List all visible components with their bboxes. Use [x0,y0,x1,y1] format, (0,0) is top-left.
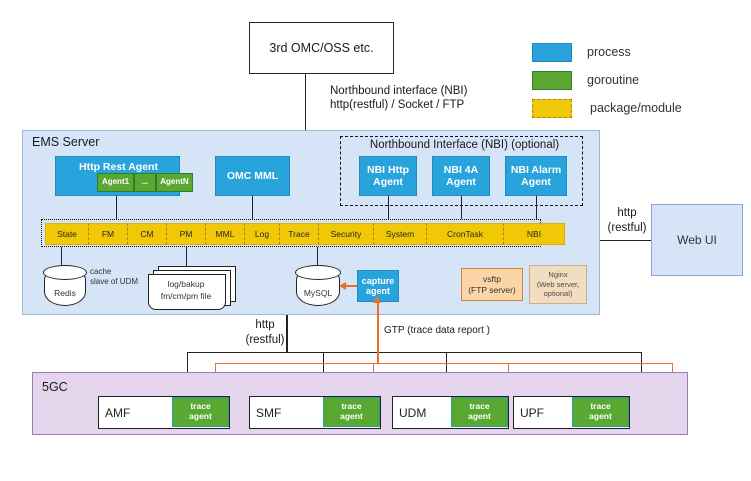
files-label-line2: fm/cm/pm file [161,291,212,303]
fivegc-title: 5GC [42,380,68,396]
nbi-interface-label: Northbound interface (NBI) http(restful)… [330,84,467,113]
module-cell-mml[interactable]: MML [206,223,245,245]
arrow-capture-to-mysql [339,282,346,290]
nf-box-upf[interactable]: UPF trace agent [513,396,630,429]
legend-swatch-goroutine [532,71,572,90]
connector-omcmml-to-modules [252,196,253,219]
nbi-interface-label-line2: http(restful) / Socket / FTP [330,98,467,112]
gtp-link-label: GTP (trace data report ) [384,325,490,338]
module-cell-crontask[interactable]: CronTask [427,223,504,245]
external-omc-oss-box: 3rd OMC/OSS etc. [249,22,394,74]
connector-omcoss-to-ems [305,74,306,130]
connector-modules-to-mysql [317,247,318,266]
nf-label-udm: UDM [399,406,426,420]
legend-swatch-process [532,43,572,62]
module-cell-fm[interactable]: FM [89,223,128,245]
legend-label-package-module: package/module [590,101,682,115]
nf-label-smf: SMF [256,406,281,420]
connector-http-bus-horizontal [187,352,642,353]
connector-modules-to-files [186,247,187,266]
vsftp-box[interactable]: vsftp (FTP server) [461,268,523,301]
connector-modules-to-redis [61,247,62,266]
redis-note: cache slave of UDM [90,267,138,288]
module-cell-system[interactable]: System [374,223,427,245]
connector-httprest-to-modules [116,196,117,219]
nbi-group-title: Northbound Interface (NBI) (optional) [352,138,577,152]
connector-nbi4a-to-modules [461,196,462,219]
connector-ems-to-webui [600,240,651,241]
mysql-label: MySQL [304,288,332,298]
redis-cylinder-top [43,265,87,280]
nbi-interface-label-line1: Northbound interface (NBI) [330,84,467,98]
nf-box-amf[interactable]: AMF trace agent [98,396,230,429]
nf-label-amf: AMF [105,406,130,420]
trace-agent-amf[interactable]: trace agent [172,397,229,427]
external-omc-oss-label: 3rd OMC/OSS etc. [269,41,373,55]
trace-agent-smf[interactable]: trace agent [323,397,380,427]
redis-cylinder: Redis [44,266,86,306]
nf-label-upf: UPF [520,406,544,420]
trace-agent-upf[interactable]: trace agent [572,397,629,427]
legend-label-goroutine: goroutine [587,73,639,87]
connector-gtp-bus-horizontal [215,363,673,364]
connector-capture-to-mysql [346,285,357,287]
goroutine-agentn[interactable]: AgentN [156,173,193,192]
connector-nbialarm-to-modules [536,196,537,219]
mysql-cylinder: MySQL [296,266,340,306]
nbi-http-agent-box[interactable]: NBI Http Agent [359,156,417,196]
web-ui-box[interactable]: Web UI [651,204,743,276]
nbi-4a-agent-box[interactable]: NBI 4A Agent [432,156,490,196]
goroutine-agent-ellipsis: ... [134,173,156,192]
module-cell-trace[interactable]: Trace [280,223,319,245]
module-cell-state[interactable]: State [45,223,89,245]
module-cell-nbi[interactable]: NBI [504,223,565,245]
trace-agent-udm[interactable]: trace agent [451,397,508,427]
mysql-cylinder-top [295,265,341,280]
arrow-gtp-to-capture-agent [373,296,381,303]
connector-nbihttp-to-modules [388,196,389,219]
module-cell-pm[interactable]: PM [167,223,206,245]
redis-label: Redis [54,288,76,298]
legend-swatch-package-module [532,99,572,118]
omc-mml-box[interactable]: OMC MML [215,156,290,196]
module-cell-cm[interactable]: CM [128,223,167,245]
nginx-box[interactable]: Nginx (Web server, optional) [529,265,587,304]
nbi-alarm-agent-box[interactable]: NBI Alarm Agent [505,156,567,196]
omc-mml-label: OMC MML [227,170,278,182]
web-ui-link-label: http (restful) [604,206,650,236]
log-file-stack: log/bakup fm/cm/pm file [148,266,236,308]
http-restful-link-label: http (restful) [243,318,287,348]
goroutine-agent1[interactable]: Agent1 [97,173,134,192]
module-cell-security[interactable]: Security [319,223,374,245]
ems-server-title: EMS Server [32,135,99,151]
module-cell-log[interactable]: Log [245,223,280,245]
web-ui-label: Web UI [677,233,717,247]
nf-box-udm[interactable]: UDM trace agent [392,396,509,429]
files-label-line1: log/bakup [168,279,205,291]
legend: process goroutine package/module [532,43,742,113]
legend-label-process: process [587,45,631,59]
package-module-strip: StateFMCMPMMMLLogTraceSecuritySystemCron… [45,223,565,243]
nf-box-smf[interactable]: SMF trace agent [249,396,381,429]
connector-gtp-trunk-vertical [377,302,379,364]
